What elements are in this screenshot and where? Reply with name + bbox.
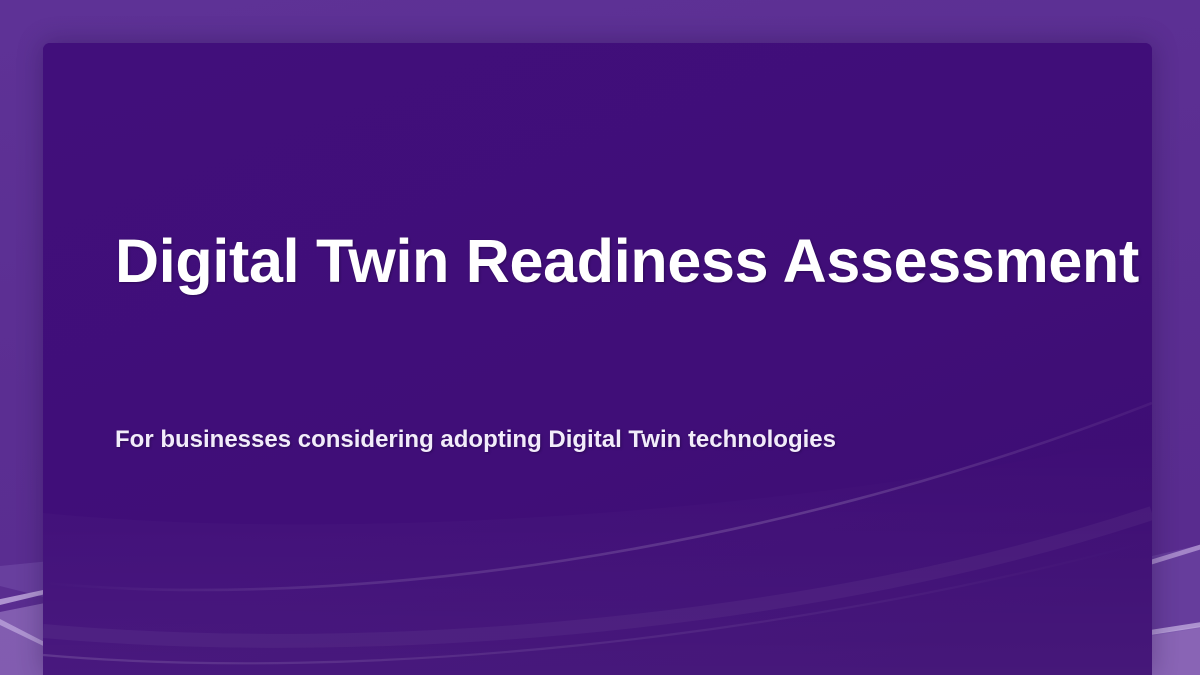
slide-card: Digital Twin Readiness Assessment For bu… <box>43 43 1152 675</box>
slide-canvas: Digital Twin Readiness Assessment For bu… <box>0 0 1200 675</box>
page-title: Digital Twin Readiness Assessment <box>115 229 1075 295</box>
slide-subtitle: For businesses considering adopting Digi… <box>115 425 1095 455</box>
slide-text-layer: Digital Twin Readiness Assessment For bu… <box>43 43 1152 675</box>
